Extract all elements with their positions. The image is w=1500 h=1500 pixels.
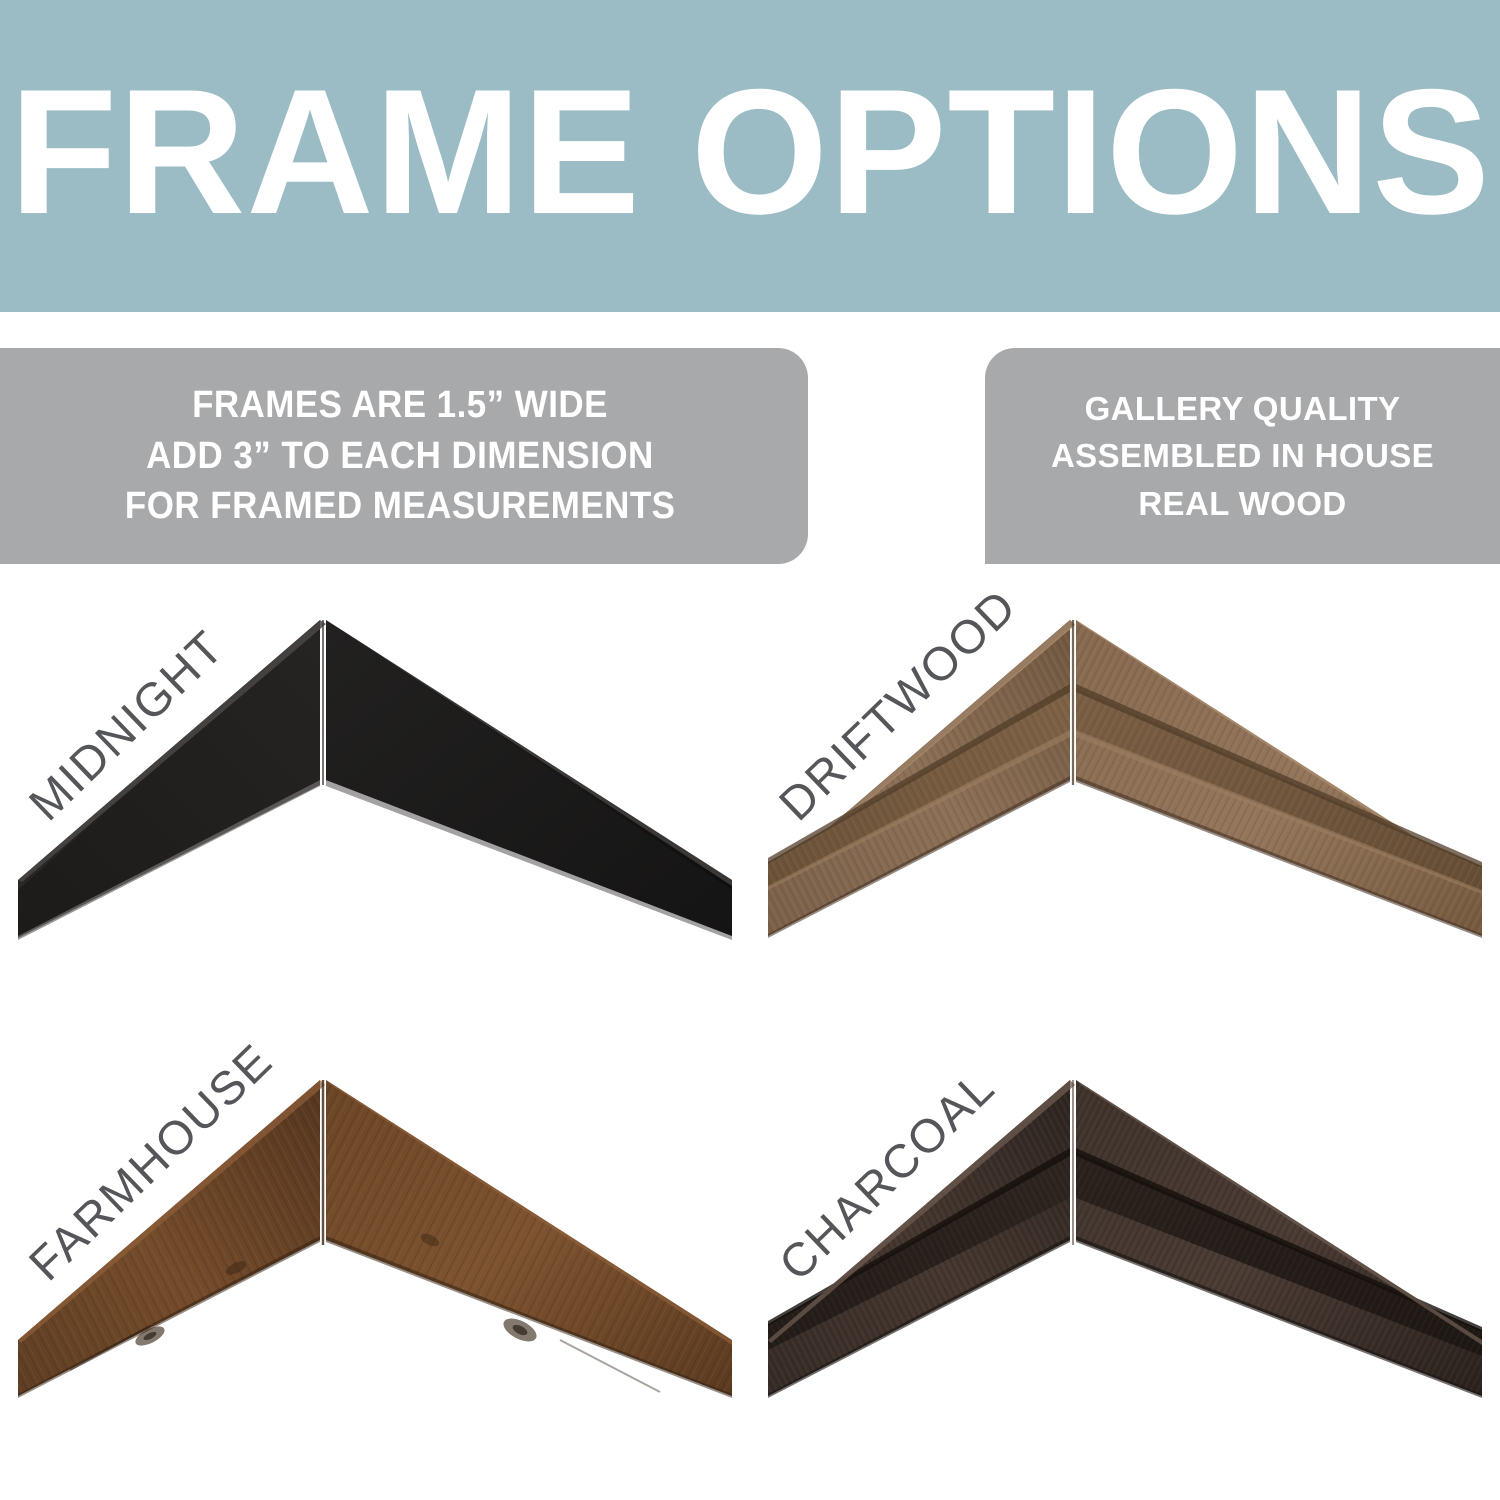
frame-sample-farmhouse[interactable]: FARMHOUSE bbox=[0, 1040, 750, 1500]
quality-line-2: ASSEMBLED IN HOUSE bbox=[1051, 432, 1434, 479]
frame-corner-graphic-farmhouse bbox=[0, 1040, 750, 1500]
quality-info-badge: GALLERY QUALITY ASSEMBLED IN HOUSE REAL … bbox=[985, 348, 1500, 564]
frame-sample-midnight[interactable]: MIDNIGHT bbox=[0, 580, 750, 1040]
frame-size-line-3: FOR FRAMED MEASUREMENTS bbox=[125, 481, 676, 532]
frame-size-line-2: ADD 3” TO EACH DIMENSION bbox=[146, 431, 654, 482]
frame-size-line-1: FRAMES ARE 1.5” WIDE bbox=[192, 380, 608, 431]
frame-corner-graphic-midnight bbox=[0, 580, 750, 1040]
frame-sample-grid: MIDNIGHT bbox=[0, 580, 1500, 1500]
quality-line-1: GALLERY QUALITY bbox=[1085, 385, 1401, 432]
frame-sample-charcoal[interactable]: CHARCOAL bbox=[750, 1040, 1500, 1500]
frame-corner-graphic-driftwood bbox=[750, 580, 1500, 1040]
header-banner: FRAME OPTIONS bbox=[0, 0, 1500, 312]
frame-size-info-badge: FRAMES ARE 1.5” WIDE ADD 3” TO EACH DIME… bbox=[0, 348, 808, 564]
frame-options-infographic: FRAME OPTIONS FRAMES ARE 1.5” WIDE ADD 3… bbox=[0, 0, 1500, 1500]
page-title: FRAME OPTIONS bbox=[9, 63, 1490, 249]
quality-line-3: REAL WOOD bbox=[1138, 480, 1346, 527]
frame-sample-driftwood[interactable]: DRIFTWOOD bbox=[750, 580, 1500, 1040]
frame-corner-graphic-charcoal bbox=[750, 1040, 1500, 1500]
